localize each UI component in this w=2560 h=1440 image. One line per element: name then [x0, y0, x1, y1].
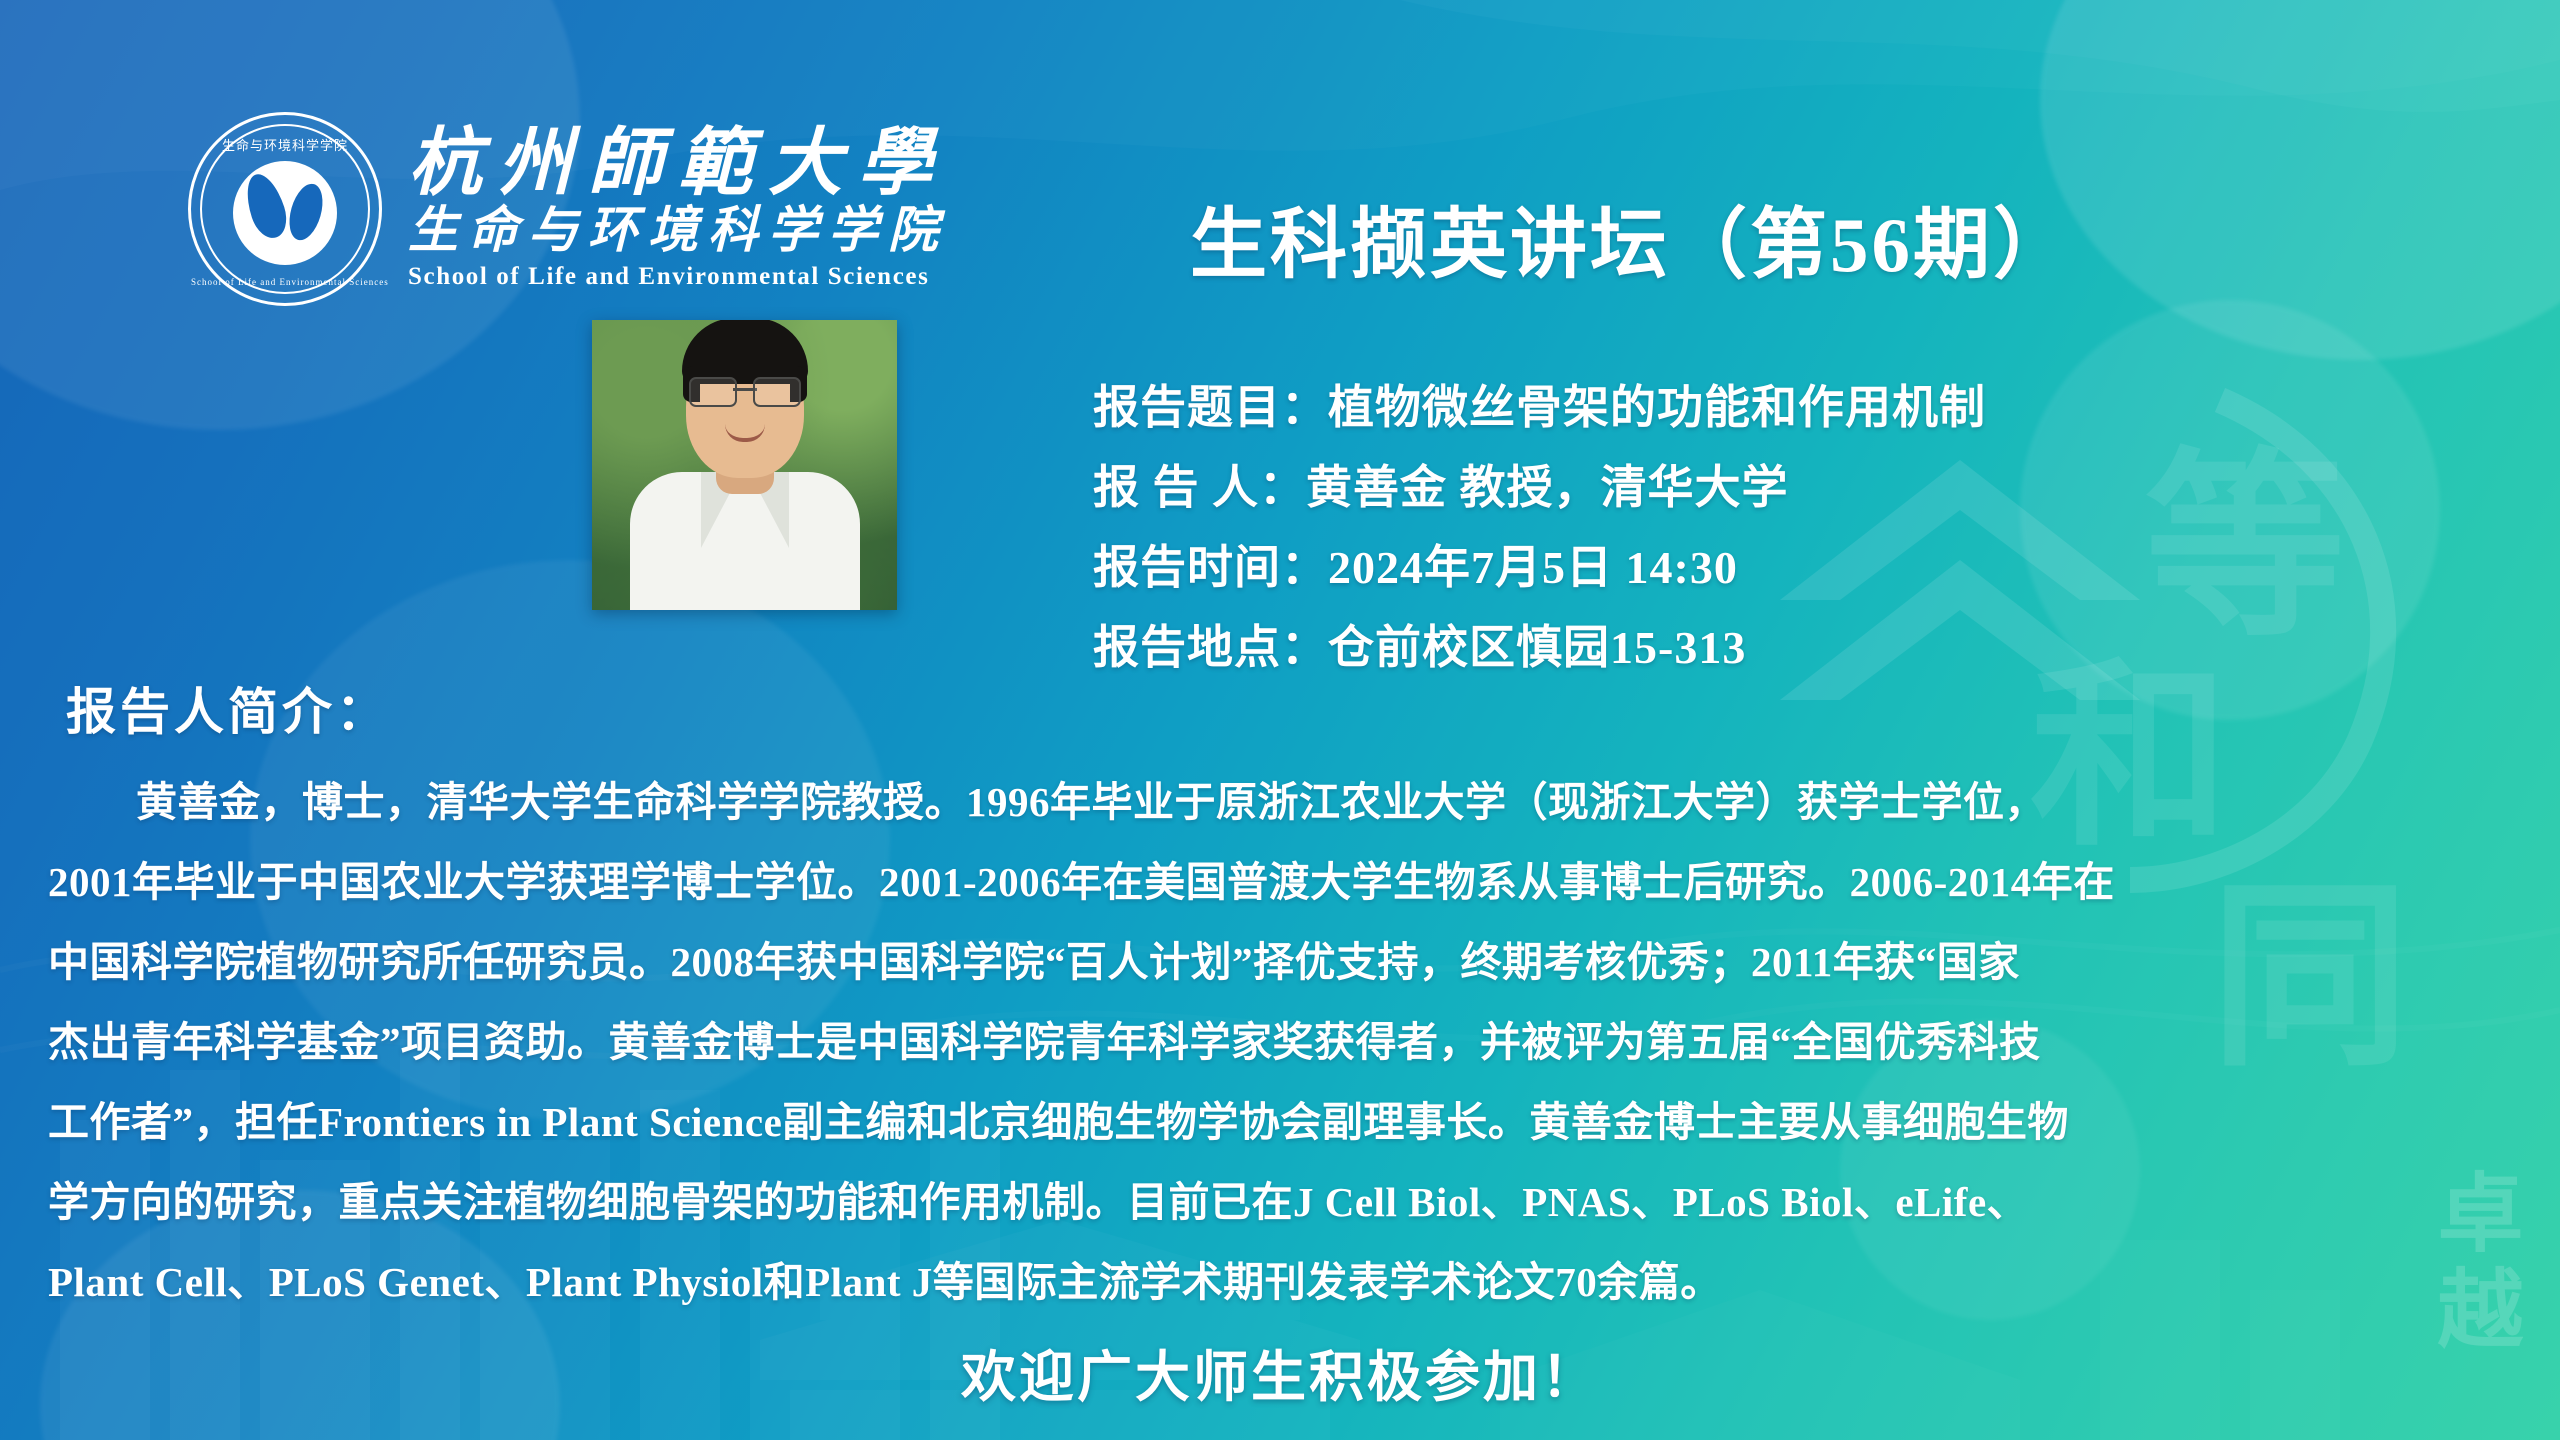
bio-line: 学方向的研究，重点关注植物细胞骨架的功能和作用机制。目前已在J Cell Bio…: [48, 1162, 2518, 1242]
school-name-en: School of Life and Environmental Science…: [408, 263, 948, 291]
bio-line: 中国科学院植物研究所任研究员。2008年获中国科学院“百人计划”择优支持，终期考…: [48, 922, 2518, 1002]
event-time: 报告时间：2024年7月5日 14:30: [1093, 528, 1986, 608]
lecture-poster: 等 和 同 卓越 生命与环境科学学院 School of Life and En…: [0, 0, 2560, 1440]
event-info-block: 报告题目：植物微丝骨架的功能和作用机制 报 告 人：黄善金 教授，清华大学 报告…: [1093, 368, 1986, 688]
seal-ring-top-text: 生命与环境科学学院: [191, 135, 379, 154]
event-topic: 报告题目：植物微丝骨架的功能和作用机制: [1093, 368, 1986, 448]
portrait-glasses-icon: [689, 377, 801, 404]
bio-heading: 报告人简介：: [66, 672, 390, 744]
bio-line: 工作者”，担任Frontiers in Plant Science副主编和北京细…: [48, 1082, 2518, 1162]
bio-line: Plant Cell、PLoS Genet、Plant Physiol和Plan…: [48, 1242, 2518, 1322]
photo-portrait-figure: [592, 320, 897, 610]
event-speaker: 报 告 人：黄善金 教授，清华大学: [1093, 448, 1986, 528]
bio-line: 杰出青年科学基金”项目资助。黄善金博士是中国科学院青年科学家奖获得者，并被评为第…: [48, 1002, 2518, 1082]
university-logo: 生命与环境科学学院 School of Life and Environment…: [188, 112, 948, 306]
bio-line: 2001年毕业于中国农业大学获理学博士学位。2001-2006年在美国普渡大学生…: [48, 842, 2518, 922]
university-seal-icon: 生命与环境科学学院 School of Life and Environment…: [188, 112, 382, 306]
seal-ring-bottom-text: School of Life and Environmental Science…: [191, 277, 379, 287]
calligraphy-watermark: 等: [2145, 455, 2345, 645]
speaker-photo: [592, 320, 897, 610]
decor-blob: [2020, 300, 2440, 720]
portrait-hair: [682, 320, 808, 384]
logo-wordmark: 杭州師範大學 生命与环境科学学院 School of Life and Envi…: [408, 127, 948, 291]
event-location: 报告地点：仓前校区慎园15-313: [1093, 608, 1986, 688]
school-name-cn: 生命与环境科学学院: [408, 204, 948, 257]
poster-header: 生命与环境科学学院 School of Life and Environment…: [0, 0, 2560, 330]
seal-ring-text: 生命与环境科学学院 School of Life and Environment…: [191, 115, 379, 303]
footer-call-to-action: 欢迎广大师生积极参加！: [0, 1332, 2560, 1412]
bio-body: 黄善金，博士，清华大学生命科学学院教授。1996年毕业于原浙江农业大学（现浙江大…: [48, 762, 2518, 1322]
page-title: 生科撷英讲坛（第56期）: [1190, 183, 2073, 294]
bio-line: 黄善金，博士，清华大学生命科学学院教授。1996年毕业于原浙江农业大学（现浙江大…: [48, 762, 2518, 842]
university-name-cn: 杭州師範大學: [408, 127, 948, 202]
